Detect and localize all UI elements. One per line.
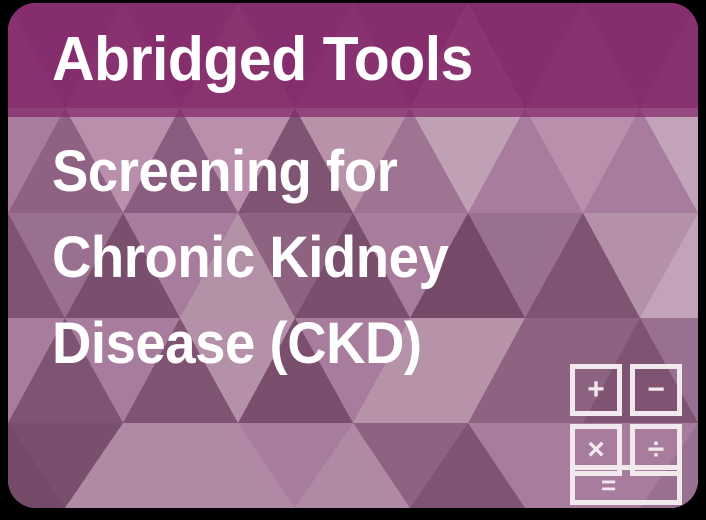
calculator-icon: + − × ÷ = [570,364,682,488]
calculator-minus-key: − [630,364,682,416]
calculator-equals-key: = [570,465,682,505]
calculator-plus-key: + [570,364,622,416]
page-title-line-3: Disease (CKD) [52,301,541,387]
page-title-line-2: Chronic Kidney [52,215,541,301]
page-title-line-1: Screening for [52,129,541,215]
header-title: Abridged Tools [52,17,622,103]
page-title: Screening for Chronic Kidney Disease (CK… [52,129,541,387]
tool-card: Abridged Tools Screening for Chronic Kid… [8,3,698,508]
